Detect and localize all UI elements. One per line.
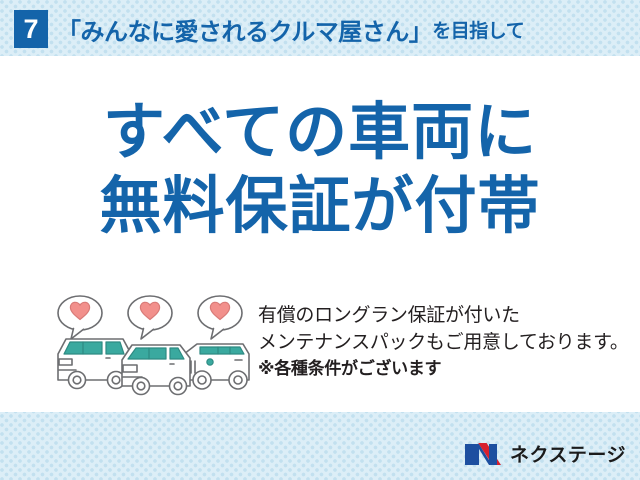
header-title-suffix: を目指して — [432, 16, 524, 43]
headline-line-1: すべての車両に — [0, 102, 640, 164]
cars-with-hearts-illustration — [50, 292, 255, 404]
promo-banner: 7 「みんなに愛されるクルマ屋さん」 を目指して すべての車両に 無料保証が付帯 — [0, 0, 640, 480]
speech-bubble-1 — [58, 296, 102, 339]
speech-bubble-3 — [198, 296, 242, 339]
header-title-quoted: 「みんなに愛されるクルマ屋さん」 — [57, 12, 432, 47]
headline-line-2: 無料保証が付帯 — [0, 176, 640, 238]
brand-logo: ネクステージ — [464, 438, 626, 468]
banner-header: 7 「みんなに愛されるクルマ屋さん」 を目指して — [0, 0, 640, 56]
body-line-2: メンテナンスパックもご用意しております。 — [258, 330, 638, 357]
car-suv-icon — [184, 344, 249, 389]
body-note: ※各種条件がございます — [258, 357, 638, 381]
content-panel: すべての車両に 無料保証が付帯 — [0, 56, 640, 412]
header-title: 「みんなに愛されるクルマ屋さん」 を目指して — [57, 11, 524, 47]
nextage-n-mark-icon — [464, 441, 502, 466]
body-line-1: 有償のロングラン保証が付いた — [258, 303, 638, 330]
body-copy: 有償のロングラン保証が付いた メンテナンスパックもご用意しております。 ※各種条… — [258, 303, 638, 381]
brand-name: ネクステージ — [510, 440, 626, 467]
car-minivan-icon — [58, 339, 129, 389]
car-van-icon — [122, 345, 190, 395]
speech-bubble-2 — [128, 296, 172, 339]
section-number-badge: 7 — [14, 10, 48, 48]
headline: すべての車両に 無料保証が付帯 — [0, 102, 640, 238]
